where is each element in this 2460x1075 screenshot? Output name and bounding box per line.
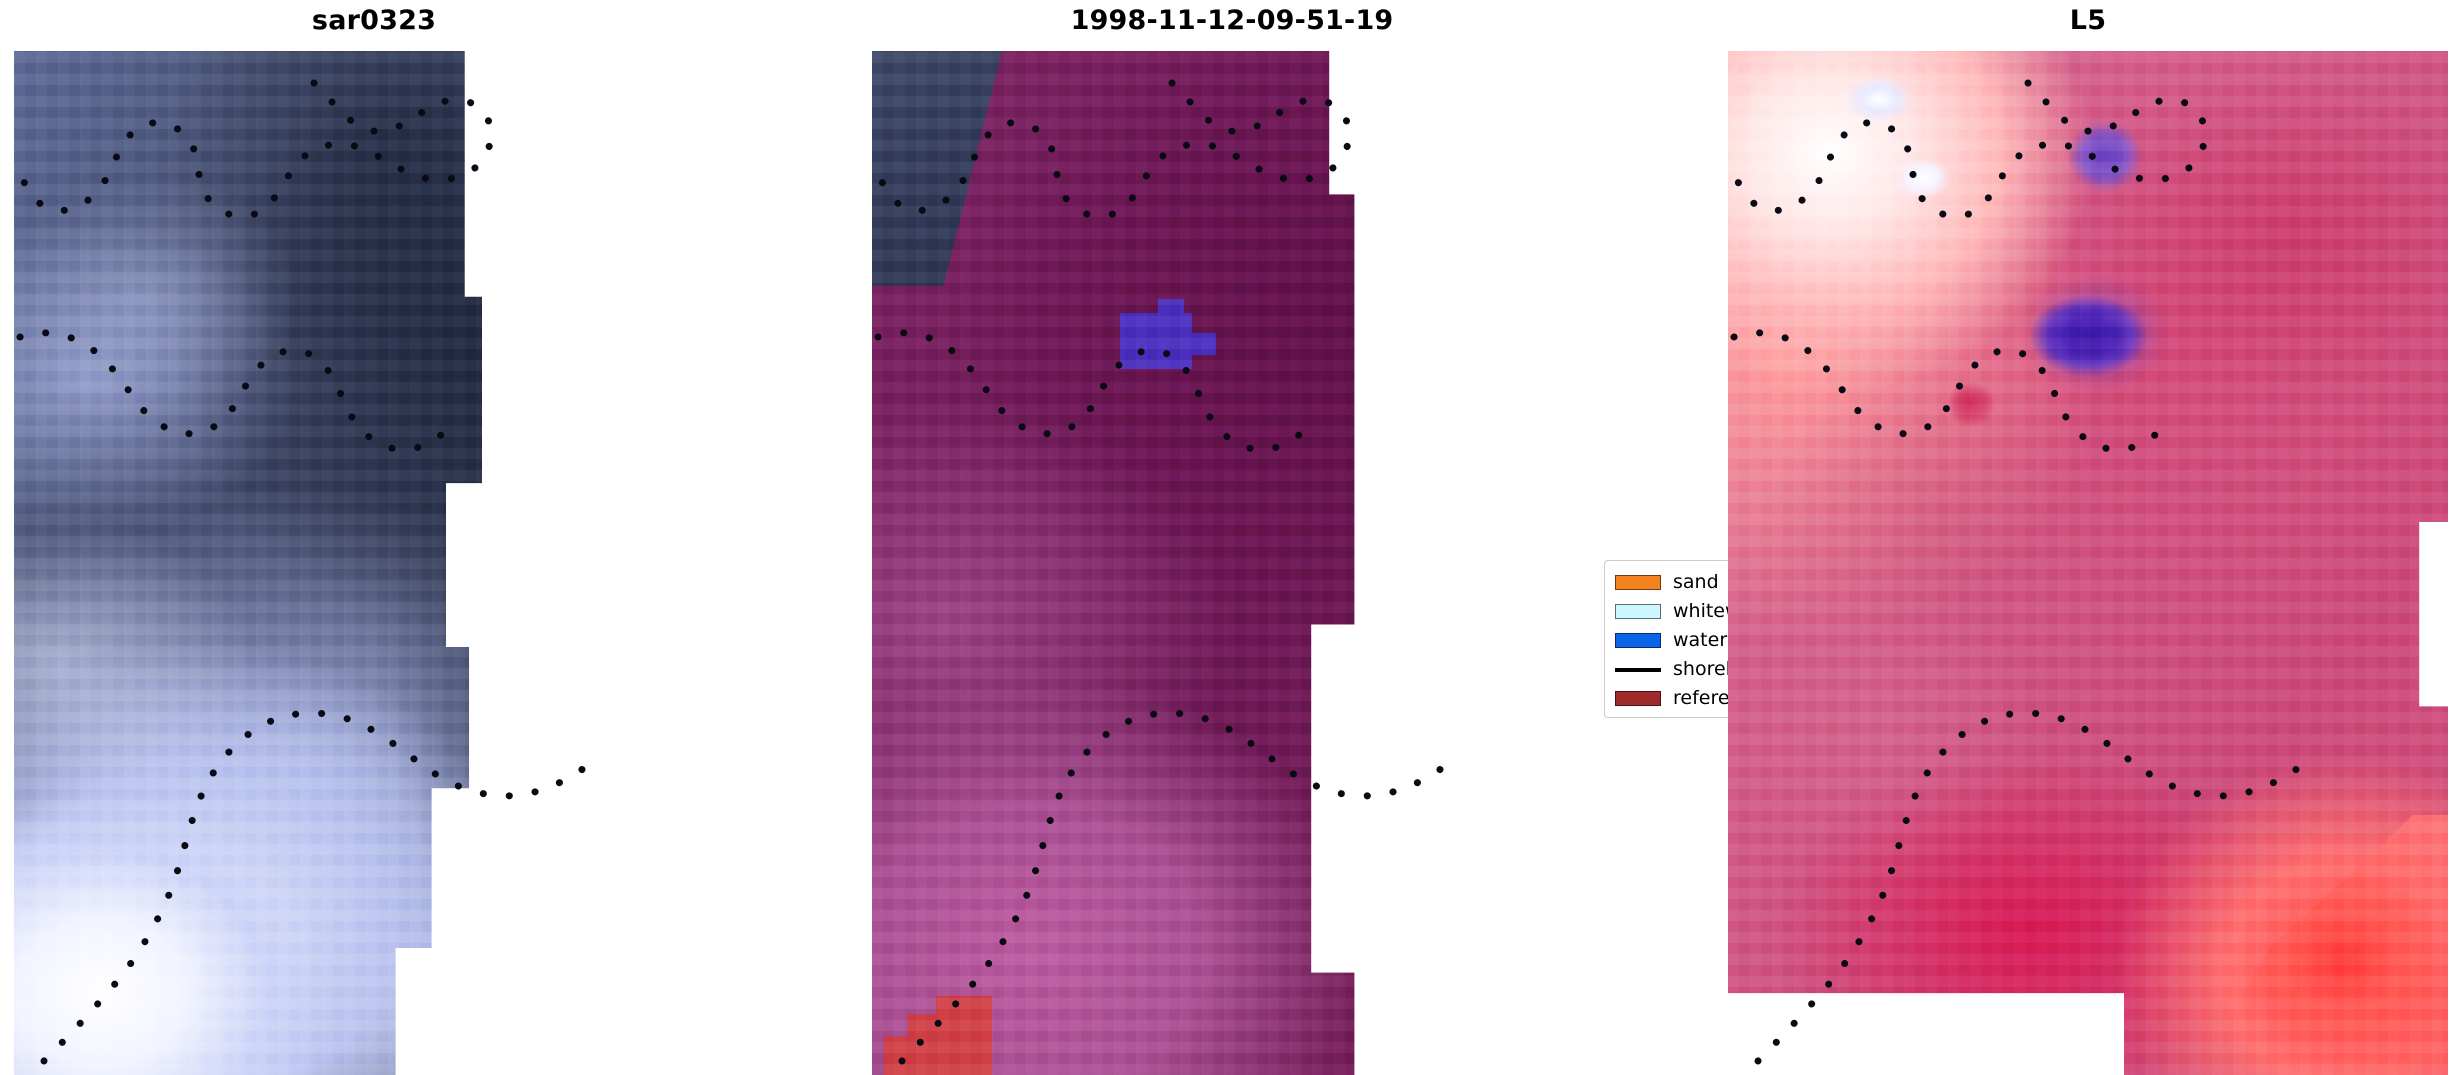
reference-swatch: [1615, 691, 1661, 706]
panel-sar-image: [14, 51, 734, 1075]
water-swatch: [1615, 633, 1661, 648]
classified-raster: [872, 51, 1592, 1075]
whitewater-swatch: [1615, 604, 1661, 619]
panel-date-image: [872, 51, 1592, 1075]
classified-pixel-mosaic: [872, 51, 1592, 1075]
classified-sar-sliver-bottomright: [1366, 865, 1592, 1075]
panel-l5: L5: [1728, 0, 2448, 1075]
panel-date-title: 1998-11-12-09-51-19: [872, 4, 1592, 38]
panel-date: 1998-11-12-09-51-19: [872, 0, 1592, 1075]
legend-label-sand: sand: [1673, 573, 1719, 592]
l5-pixel-mosaic: [1728, 51, 2448, 1075]
sar-raster: [14, 51, 734, 1075]
panel-sar-title: sar0323: [14, 4, 734, 38]
classified-coastal-band: [1518, 51, 1592, 1075]
figure-canvas: sar0323 1998-11-12-09-51-19: [0, 0, 2460, 1075]
panel-sar: sar0323: [14, 0, 734, 1075]
sand-swatch: [1615, 575, 1661, 590]
legend-label-water: water: [1673, 631, 1727, 650]
shoreline-swatch: [1615, 668, 1661, 672]
legend-label-shoreline: shoreli: [1673, 660, 1736, 679]
panel-l5-image: [1728, 51, 2448, 1075]
sar-pixel-mosaic: [14, 51, 734, 1075]
panel-l5-title: L5: [1728, 4, 2448, 38]
l5-raster: [1728, 51, 2448, 1075]
